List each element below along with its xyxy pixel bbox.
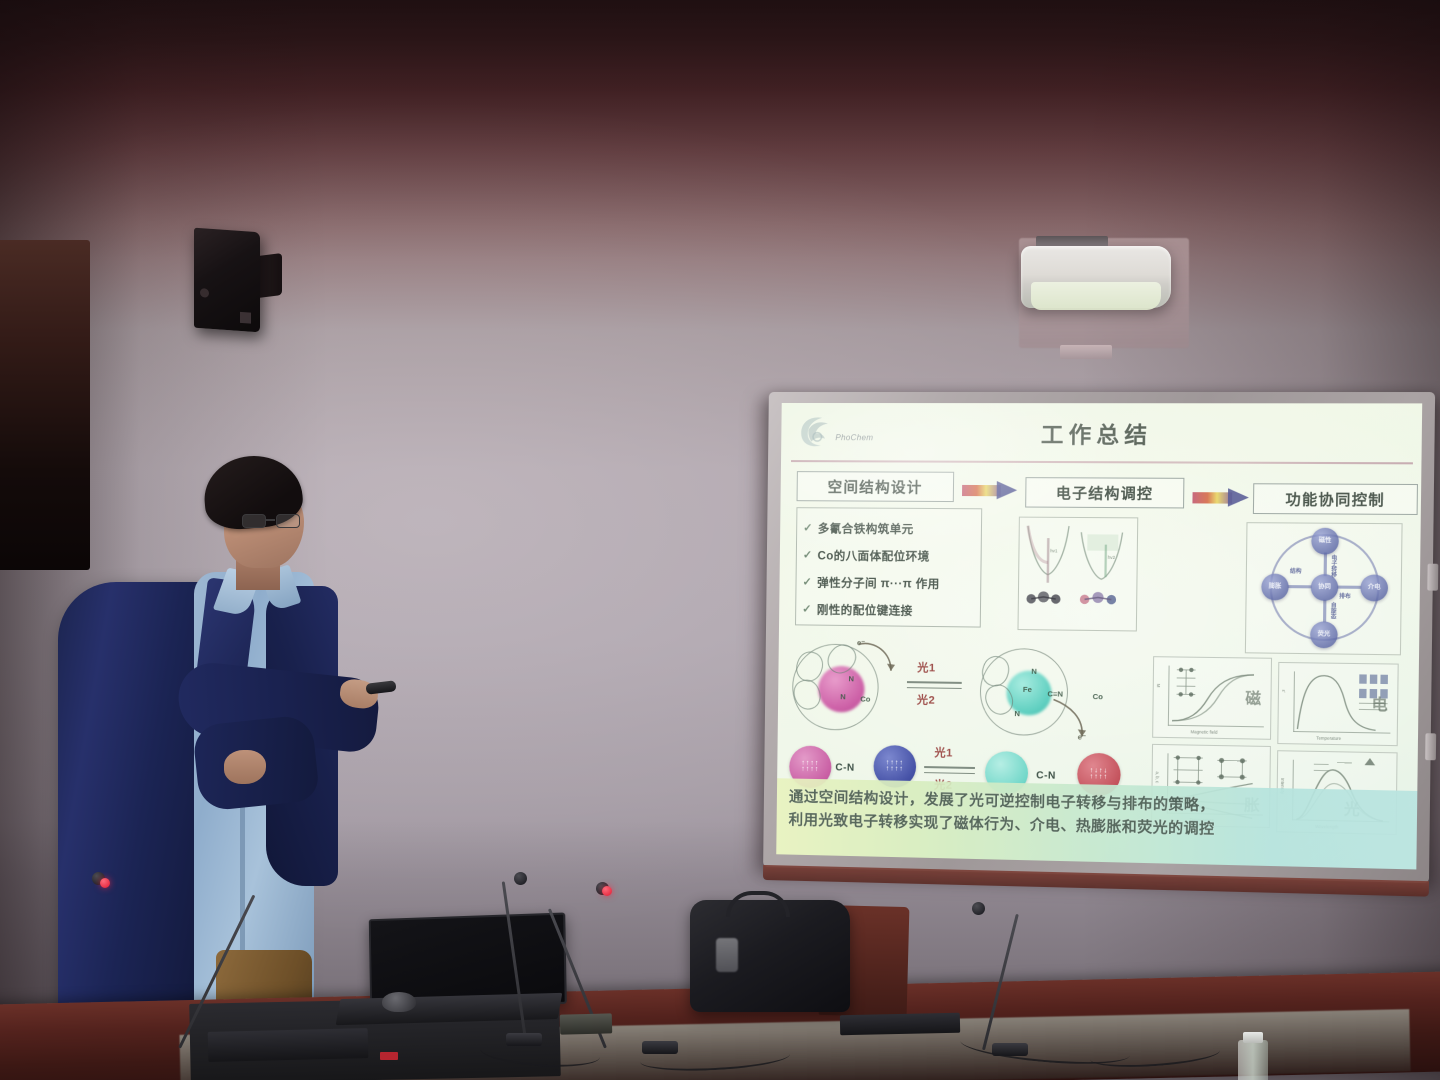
potential-energy-diagram: hv1 hv2 bbox=[1018, 518, 1139, 633]
bullet-label: 刚性的配位键连接 bbox=[817, 601, 913, 618]
wheel-node-fluorescence: 荧光 bbox=[1310, 621, 1338, 648]
wall-speaker-icon bbox=[194, 228, 260, 333]
spin-arrows-icon: ↑↑↑↑↑↑↑↑ bbox=[801, 761, 819, 773]
check-icon: ✓ bbox=[802, 575, 812, 588]
spoke-bottom bbox=[1323, 600, 1326, 623]
list-item: ✓ 刚性的配位键连接 bbox=[802, 595, 976, 624]
check-icon: ✓ bbox=[803, 548, 813, 561]
slide-title: 工作总结 bbox=[781, 417, 1422, 451]
check-icon: ✓ bbox=[802, 602, 812, 615]
flow-arrow-icon-2 bbox=[1192, 489, 1251, 507]
spoke-label-2: 结构 bbox=[1290, 567, 1302, 575]
cn-bridge-label-1: C-N bbox=[835, 762, 855, 773]
board-side-clip-bottom bbox=[1425, 733, 1436, 760]
whiteboard-surface: PhoChem 工作总结 空间结构设计 电子结构调控 bbox=[776, 403, 1422, 869]
electron-label-right: e⁻ bbox=[1078, 732, 1086, 741]
water-bottle[interactable] bbox=[1238, 1040, 1268, 1080]
bullet-list-panel: ✓ 多氰合铁构筑单元 ✓ Co的八面体配位环境 ✓ 弹性分子间 π···π 作用 bbox=[795, 507, 982, 627]
n-label-a: N bbox=[848, 674, 854, 683]
spin-arrows-icon: ↑↓↑↓↑↑↑↑ bbox=[1090, 769, 1109, 781]
bullet-label: Co的八面体配位环境 bbox=[817, 547, 929, 564]
stage-box-spatial-design: 空间结构设计 bbox=[797, 471, 955, 502]
spoke-label-3: 排布 bbox=[1339, 592, 1351, 600]
light-forward-label-bottom: 光1 bbox=[934, 744, 953, 760]
gooseneck-microphone-left[interactable] bbox=[86, 868, 276, 1048]
whiteboard-with-projection[interactable]: PhoChem 工作总结 空间结构设计 电子结构调控 bbox=[763, 392, 1435, 883]
co-label-left: Co bbox=[860, 694, 870, 703]
wheel-node-dielectric: 介电 bbox=[1360, 574, 1388, 601]
projector-lens bbox=[1031, 282, 1161, 310]
function-synergy-panel: 协同 磁性 介电 荧光 膨胀 电子转移 自旋态 结构 排布 bbox=[1245, 522, 1403, 655]
photoinduced-electron-transfer-diagram: e⁻ N N Co 光1 光2 N Fe bbox=[788, 635, 1139, 751]
projected-slide: PhoChem 工作总结 空间结构设计 电子结构调控 bbox=[776, 403, 1422, 869]
chart-ylabel-magnetism: M bbox=[1156, 684, 1161, 688]
list-item: ✓ Co的八面体配位环境 bbox=[803, 541, 977, 570]
glasses-bridge bbox=[266, 519, 275, 521]
cn-bridge-label-2: C-N bbox=[1036, 770, 1056, 782]
light-forward-label-top: 光1 bbox=[917, 659, 936, 675]
spoke-left bbox=[1288, 585, 1312, 588]
spoke-label-0: 电子转移 bbox=[1329, 555, 1338, 578]
n-label-c: N bbox=[1031, 667, 1037, 676]
light-reverse-label-top: 光2 bbox=[917, 691, 936, 707]
computer-mouse[interactable] bbox=[382, 992, 416, 1012]
equilibrium-arrows-bottom bbox=[924, 766, 975, 774]
chart-xlabel-magnetism: Magnetic field bbox=[1191, 729, 1218, 735]
cable-tray bbox=[840, 1013, 960, 1036]
list-item: ✓ 弹性分子间 π···π 作用 bbox=[802, 568, 976, 597]
control-panel-box[interactable] bbox=[208, 1028, 369, 1062]
n-label-b: N bbox=[840, 692, 846, 701]
fe-label: Fe bbox=[1023, 685, 1032, 694]
check-icon: ✓ bbox=[803, 521, 813, 534]
spoke-top bbox=[1324, 552, 1327, 576]
glasses-icon bbox=[242, 514, 300, 530]
board-side-clip-top bbox=[1427, 564, 1438, 591]
spin-arrows-icon: ↑↑↑↑↑↑↑↑ bbox=[886, 761, 904, 773]
equilibrium-arrows-top bbox=[907, 681, 962, 689]
projector-shadow bbox=[1060, 345, 1112, 359]
bullet-label: 多氰合铁构筑单元 bbox=[818, 520, 914, 537]
flow-arrow-icon-1 bbox=[962, 482, 1019, 499]
spoke-label-1: 自旋态 bbox=[1328, 602, 1337, 619]
wheel-node-magnetism: 磁性 bbox=[1311, 528, 1339, 555]
glasses-lens-right bbox=[276, 514, 300, 528]
conclusion-band: 通过空间结构设计，发展了光可逆控制电子转移与排布的策略， 利用光致电子转移实现了… bbox=[776, 778, 1417, 869]
chart-ylabel-expansion: a, b, c bbox=[1155, 771, 1160, 783]
n-label-d: N bbox=[1014, 709, 1020, 718]
chart-ylabel-dielectric: ε' bbox=[1281, 690, 1286, 693]
red-indicator bbox=[380, 1052, 398, 1060]
stage-box-function-control: 功能协同控制 bbox=[1253, 483, 1418, 515]
svg-text:hv2: hv2 bbox=[1108, 555, 1116, 560]
stage-box-electronic-tuning: 电子结构调控 bbox=[1025, 477, 1184, 508]
gooseneck-microphone-right[interactable] bbox=[590, 880, 750, 1048]
lecture-room-photo: EPSON PhoChem 工作总结 bbox=[0, 0, 1440, 1080]
potential-well-panel: hv1 hv2 bbox=[1017, 517, 1138, 632]
mini-chart-magnetism: 磁 Magnetic field M bbox=[1152, 656, 1272, 740]
chart-glyph-dielectric: 电 bbox=[1372, 693, 1388, 715]
spoke-right bbox=[1337, 586, 1361, 589]
adapter-block bbox=[560, 1013, 612, 1034]
electron-label-left: e⁻ bbox=[857, 638, 865, 647]
bullet-label: 弹性分子间 π···π 作用 bbox=[817, 574, 940, 591]
resting-hand bbox=[224, 750, 266, 784]
electron-transfer-arrow-left bbox=[846, 636, 903, 685]
svg-text:hv1: hv1 bbox=[1050, 548, 1058, 553]
electron-transfer-arrow-right bbox=[1047, 695, 1105, 743]
chart-xlabel-dielectric: Temperature bbox=[1316, 735, 1341, 741]
list-item: ✓ 多氰合铁构筑单元 bbox=[803, 514, 977, 542]
whiteboard-frame: PhoChem 工作总结 空间结构设计 电子结构调控 bbox=[763, 392, 1435, 883]
title-divider bbox=[791, 460, 1413, 464]
glasses-lens-left bbox=[242, 514, 266, 528]
chart-glyph-magnetism: 磁 bbox=[1245, 687, 1261, 709]
bottle-cap bbox=[1243, 1032, 1263, 1043]
mini-chart-dielectric: 电 Temperature ε' bbox=[1277, 662, 1398, 746]
